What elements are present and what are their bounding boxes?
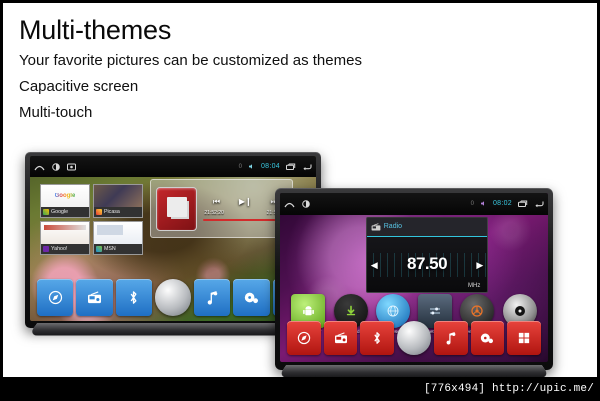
watermark-bar: [776x494] http://upic.me/	[0, 377, 600, 401]
bookmark-widget-grid: Google Google Picasa	[40, 184, 143, 255]
home-icon[interactable]	[34, 163, 45, 171]
bookmark-label-row: Picasa	[94, 207, 142, 217]
status-time: 08:02	[493, 200, 512, 207]
left-status-bar: 0 08:04	[30, 156, 316, 177]
signal-indicator: 0	[471, 201, 474, 207]
dock-item-volume-knob[interactable]	[397, 321, 431, 355]
compass-icon	[48, 290, 63, 305]
text-block: Multi-themes Your favorite pictures can …	[19, 15, 579, 124]
album-art-icon	[156, 187, 197, 231]
page-title: Multi-themes	[19, 15, 579, 46]
device-stage: 0 08:04	[3, 144, 597, 377]
music-note-icon	[445, 331, 457, 345]
signal-indicator: 0	[239, 164, 242, 170]
bookmark-thumbnail	[41, 222, 89, 244]
right-dock	[280, 316, 548, 360]
dock-item-music[interactable]	[194, 279, 230, 315]
radio-icon	[371, 223, 381, 231]
picasa-icon	[96, 209, 102, 215]
left-device-screen[interactable]: 0 08:04	[30, 156, 316, 321]
radio-icon	[87, 291, 102, 304]
radio-frequency: 87.50	[407, 254, 447, 274]
feature-line-3: Multi-touch	[19, 101, 579, 124]
bookmark-name: Picasa	[104, 209, 120, 215]
bookmark-thumbnail	[94, 185, 142, 207]
feature-line-1: Your favorite pictures can be customized…	[19, 49, 579, 72]
prev-track-button[interactable]: ⏮	[213, 197, 220, 207]
slide-page: Multi-themes Your favorite pictures can …	[0, 0, 600, 401]
bookmark-label-row: Google	[41, 207, 89, 217]
bookmark-thumbnail: Google	[41, 185, 89, 207]
dock-item-all-apps[interactable]	[507, 321, 541, 355]
dock-item-radio[interactable]	[76, 279, 112, 315]
screenshot-icon[interactable]	[67, 163, 76, 171]
dock-item-radio[interactable]	[324, 321, 358, 355]
dock-item-music[interactable]	[434, 321, 468, 355]
volume-mute-icon	[480, 200, 487, 207]
grid-icon	[518, 332, 530, 344]
right-device-stand	[278, 365, 551, 377]
contrast-icon[interactable]	[302, 200, 310, 208]
dock-item-bluetooth[interactable]	[116, 279, 152, 315]
elapsed-time: 21:52:20	[204, 210, 223, 216]
radio-widget-body: ◀ 87.50 ▶ MHz	[367, 237, 488, 292]
right-status-bar: 0 08:02	[280, 193, 548, 215]
recents-icon[interactable]	[518, 200, 528, 208]
bookmark-item-picasa[interactable]: Picasa	[93, 184, 143, 218]
bookmark-label-row: Yahoo!	[41, 244, 89, 254]
frequency-unit: MHz	[468, 283, 480, 289]
bluetooth-icon	[128, 290, 139, 305]
bookmark-name: Yahoo!	[51, 246, 67, 252]
google-icon	[43, 209, 49, 215]
dock-item-browser[interactable]	[37, 279, 73, 315]
bluetooth-icon	[372, 331, 382, 345]
contrast-icon[interactable]	[52, 163, 60, 171]
watermark-text: [776x494] http://upic.me/	[424, 383, 594, 395]
radio-icon	[334, 332, 348, 344]
tune-up-button[interactable]: ▶	[476, 260, 483, 271]
dock-item-bluetooth[interactable]	[360, 321, 394, 355]
dock-item-browser[interactable]	[287, 321, 321, 355]
bookmark-label-row: MSN	[94, 244, 142, 254]
bookmark-name: MSN	[104, 246, 116, 252]
msn-icon	[96, 246, 102, 252]
bookmark-thumbnail	[94, 222, 142, 244]
compass-icon	[297, 331, 311, 345]
recents-icon[interactable]	[286, 163, 296, 171]
yahoo-icon	[43, 246, 49, 252]
back-icon[interactable]	[534, 200, 544, 208]
dock-item-volume-knob[interactable]	[155, 279, 191, 315]
music-note-icon	[206, 290, 219, 305]
film-reel-icon	[244, 291, 259, 304]
right-head-unit: 0 08:02	[275, 188, 553, 370]
slide-sheet: Multi-themes Your favorite pictures can …	[3, 3, 597, 377]
bookmark-item-msn[interactable]: MSN	[93, 221, 143, 255]
film-reel-icon	[480, 332, 494, 344]
tune-down-button[interactable]: ◀	[371, 260, 378, 271]
status-time: 08:04	[261, 163, 280, 170]
back-icon[interactable]	[302, 163, 312, 171]
left-dock	[30, 276, 316, 319]
play-pause-button[interactable]: ▶❙	[239, 197, 252, 206]
bookmark-item-yahoo[interactable]: Yahoo!	[40, 221, 90, 255]
home-icon[interactable]	[284, 200, 295, 208]
radio-widget-title: Radio	[384, 223, 402, 230]
radio-widget[interactable]: Radio ◀ 87.50 ▶ MHz	[366, 217, 489, 293]
right-device-screen[interactable]: 0 08:02	[280, 193, 548, 362]
media-player-overlay[interactable]: ⏮ ▶❙ ⏭ 21:52:20 21:52:20	[150, 179, 293, 238]
dock-item-video[interactable]	[233, 279, 269, 315]
bookmark-name: Google	[51, 209, 68, 215]
dock-item-video[interactable]	[471, 321, 505, 355]
radio-widget-header: Radio	[367, 218, 488, 237]
volume-mute-icon	[248, 163, 255, 170]
bookmark-item-google[interactable]: Google Google	[40, 184, 90, 218]
feature-line-2: Capacitive screen	[19, 75, 579, 98]
